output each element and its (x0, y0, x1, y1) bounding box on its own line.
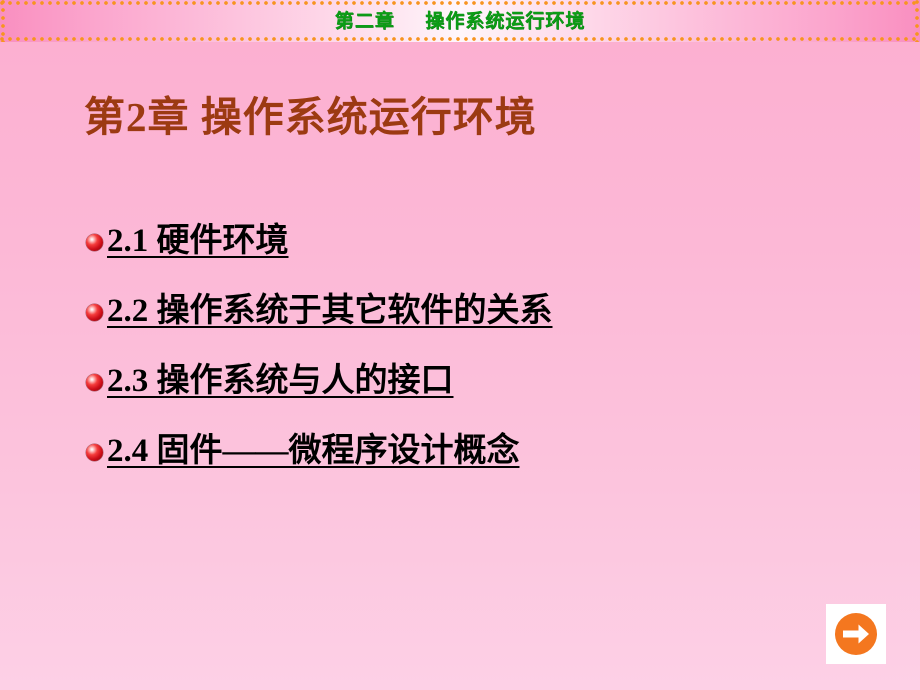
page-title: 第2章 操作系统运行环境 (84, 92, 537, 142)
slide-canvas: 第二章 操作系统运行环境 第2章 操作系统运行环境 2.1 硬件环境 2.2 操… (0, 0, 920, 690)
agenda-list: 2.1 硬件环境 2.2 操作系统于其它软件的关系 2.3 操作系统与人的接口 … (86, 206, 786, 486)
list-item[interactable]: 2.1 硬件环境 (86, 206, 786, 276)
red-sphere-bullet-icon (86, 304, 103, 321)
list-item[interactable]: 2.3 操作系统与人的接口 (86, 346, 786, 416)
header-banner-text: 第二章 操作系统运行环境 (0, 0, 920, 42)
red-sphere-bullet-icon (86, 444, 103, 461)
red-sphere-bullet-icon (86, 234, 103, 251)
list-item-label[interactable]: 2.1 硬件环境 (107, 222, 289, 260)
list-item-label[interactable]: 2.4 固件——微程序设计概念 (107, 432, 520, 470)
list-item[interactable]: 2.4 固件——微程序设计概念 (86, 416, 786, 486)
list-item[interactable]: 2.2 操作系统于其它软件的关系 (86, 276, 786, 346)
list-item-label[interactable]: 2.2 操作系统于其它软件的关系 (107, 292, 553, 330)
header-banner: 第二章 操作系统运行环境 (0, 0, 920, 42)
arrow-right-circle-icon (833, 611, 879, 657)
list-item-label[interactable]: 2.3 操作系统与人的接口 (107, 362, 454, 400)
next-slide-button[interactable] (826, 604, 886, 664)
red-sphere-bullet-icon (86, 374, 103, 391)
